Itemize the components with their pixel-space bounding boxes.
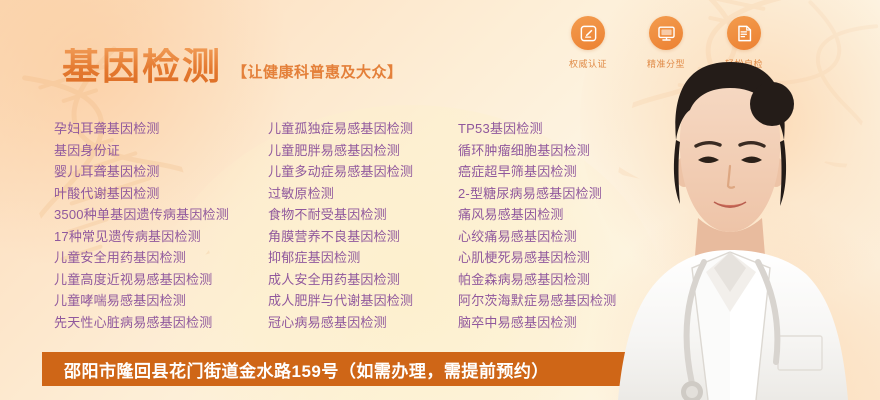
list-item[interactable]: 先天性心脏病易感基因检测 [54,312,268,334]
list-item[interactable]: 成人安全用药基因检测 [268,269,458,291]
feature-badge-self-test[interactable]: 轻松自检 [718,16,770,70]
address-text: 邵阳市隆回县花门街道金水路159号（如需办理，需提前预约） [42,357,549,382]
list-item[interactable]: 基因身份证 [54,140,268,162]
test-list-column-3: TP53基因检测 循环肿瘤细胞基因检测 癌症超早筛基因检测 2-型糖尿病易感基因… [458,118,658,333]
list-item[interactable]: 儿童孤独症易感基因检测 [268,118,458,140]
gene-testing-banner: 基因检测 【让健康科普惠及大众】 权威认证 [0,0,880,400]
feature-badge-group: 权威认证 精准分型 轻松自检 [562,16,770,70]
list-item[interactable]: 成人肥胖与代谢基因检测 [268,290,458,312]
list-item[interactable]: 2-型糖尿病易感基因检测 [458,183,658,205]
list-item[interactable]: 冠心病易感基因检测 [268,312,458,334]
list-item[interactable]: 脑卒中易感基因检测 [458,312,658,334]
list-item[interactable]: 过敏原检测 [268,183,458,205]
test-list-column-2: 儿童孤独症易感基因检测 儿童肥胖易感基因检测 儿童多动症易感基因检测 过敏原检测… [268,118,458,333]
list-item[interactable]: 心绞痛易感基因检测 [458,226,658,248]
feature-label: 轻松自检 [725,57,763,70]
list-item[interactable]: 循环肿瘤细胞基因检测 [458,140,658,162]
list-item[interactable]: 儿童高度近视易感基因检测 [54,269,268,291]
list-item[interactable]: 癌症超早筛基因检测 [458,161,658,183]
address-bar: 邵阳市隆回县花门街道金水路159号（如需办理，需提前预约） [42,352,748,386]
list-item[interactable]: 儿童肥胖易感基因检测 [268,140,458,162]
list-item[interactable]: 儿童安全用药基因检测 [54,247,268,269]
list-item[interactable]: 心肌梗死易感基因检测 [458,247,658,269]
list-item[interactable]: 抑郁症基因检测 [268,247,458,269]
list-item[interactable]: 3500种单基因遗传病基因检测 [54,204,268,226]
list-item[interactable]: 婴儿耳聋基因检测 [54,161,268,183]
page-subtitle: 【让健康科普惠及大众】 [232,61,403,86]
list-item[interactable]: 痛风易感基因检测 [458,204,658,226]
headline-block: 基因检测 【让健康科普惠及大众】 [62,48,403,86]
list-item[interactable]: 儿童多动症易感基因检测 [268,161,458,183]
document-icon [735,24,754,43]
feature-icon-wrap [649,16,683,50]
list-item[interactable]: 叶酸代谢基因检测 [54,183,268,205]
feature-badge-authority[interactable]: 权威认证 [562,16,614,70]
list-item[interactable]: 帕金森病易感基因检测 [458,269,658,291]
pencil-square-icon [579,24,598,43]
feature-label: 权威认证 [569,57,607,70]
list-item[interactable]: 儿童哮喘易感基因检测 [54,290,268,312]
feature-icon-wrap [727,16,761,50]
feature-label: 精准分型 [647,57,685,70]
list-item[interactable]: 孕妇耳聋基因检测 [54,118,268,140]
monitor-icon [657,24,676,43]
list-item[interactable]: 角膜营养不良基因检测 [268,226,458,248]
feature-badge-typing[interactable]: 精准分型 [640,16,692,70]
list-item[interactable]: 17种常见遗传病基因检测 [54,226,268,248]
list-item[interactable]: 阿尔茨海默症易感基因检测 [458,290,658,312]
list-item[interactable]: TP53基因检测 [458,118,658,140]
test-list-column-1: 孕妇耳聋基因检测 基因身份证 婴儿耳聋基因检测 叶酸代谢基因检测 3500种单基… [54,118,268,333]
page-title: 基因检测 [62,48,222,86]
feature-icon-wrap [571,16,605,50]
list-item[interactable]: 食物不耐受基因检测 [268,204,458,226]
test-list-columns: 孕妇耳聋基因检测 基因身份证 婴儿耳聋基因检测 叶酸代谢基因检测 3500种单基… [54,118,658,333]
